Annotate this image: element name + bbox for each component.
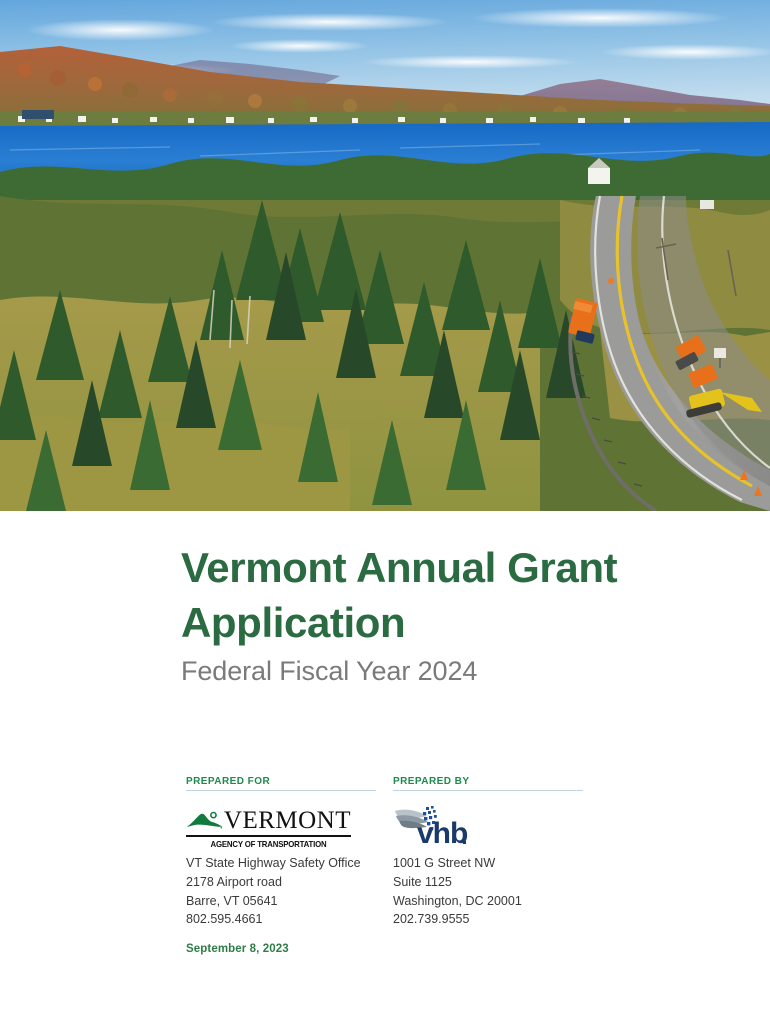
prepared-by-column: PREPARED BY <box>393 776 583 955</box>
address-line: Washington, DC 20001 <box>393 892 583 911</box>
publication-date: September 8, 2023 <box>186 943 376 955</box>
address-line: VT State Highway Safety Office <box>186 854 376 873</box>
vermont-logo-subtext: AGENCY OF TRANSPORTATION <box>193 840 345 849</box>
prepared-for-divider <box>186 790 376 791</box>
vhb-logo-dot <box>463 841 466 844</box>
cover-photograph <box>0 0 770 511</box>
prepared-for-heading: PREPARED FOR <box>186 776 376 787</box>
address-line: Barre, VT 05641 <box>186 892 376 911</box>
prepared-for-column: PREPARED FOR VERMONT AGENCY OF TRANSPORT… <box>186 776 376 955</box>
phone-number: 202.739.9555 <box>393 910 583 929</box>
title-line-2: Application <box>181 599 405 646</box>
address-line: 1001 G Street NW <box>393 854 583 873</box>
vhb-wordmark: vhb <box>417 819 467 849</box>
title-line-1: Vermont Annual Grant <box>181 544 617 591</box>
page-subtitle: Federal Fiscal Year 2024 <box>181 655 721 689</box>
prepared-by-divider <box>393 790 583 791</box>
prepared-for-address: VT State Highway Safety Office 2178 Airp… <box>186 854 376 929</box>
cover-page: Vermont Annual GrantApplication Federal … <box>0 0 770 1024</box>
cover-photo-illustration <box>0 0 770 511</box>
prepared-by-heading: PREPARED BY <box>393 776 583 787</box>
address-line: 2178 Airport road <box>186 873 376 892</box>
page-title: Vermont Annual GrantApplication <box>181 540 721 651</box>
vermont-logo-rule <box>186 835 351 837</box>
vermont-agency-of-transportation-logo: VERMONT AGENCY OF TRANSPORTATION <box>186 807 376 847</box>
address-line: Suite 1125 <box>393 873 583 892</box>
vhb-logo: vhb <box>393 807 583 847</box>
prepared-by-address: 1001 G Street NW Suite 1125 Washington, … <box>393 854 583 929</box>
phone-number: 802.595.4661 <box>186 910 376 929</box>
title-block: Vermont Annual GrantApplication Federal … <box>181 540 721 689</box>
credits-row: PREPARED FOR VERMONT AGENCY OF TRANSPORT… <box>186 776 606 955</box>
vermont-wordmark: VERMONT <box>224 808 351 833</box>
vermont-mountain-icon <box>186 807 224 833</box>
